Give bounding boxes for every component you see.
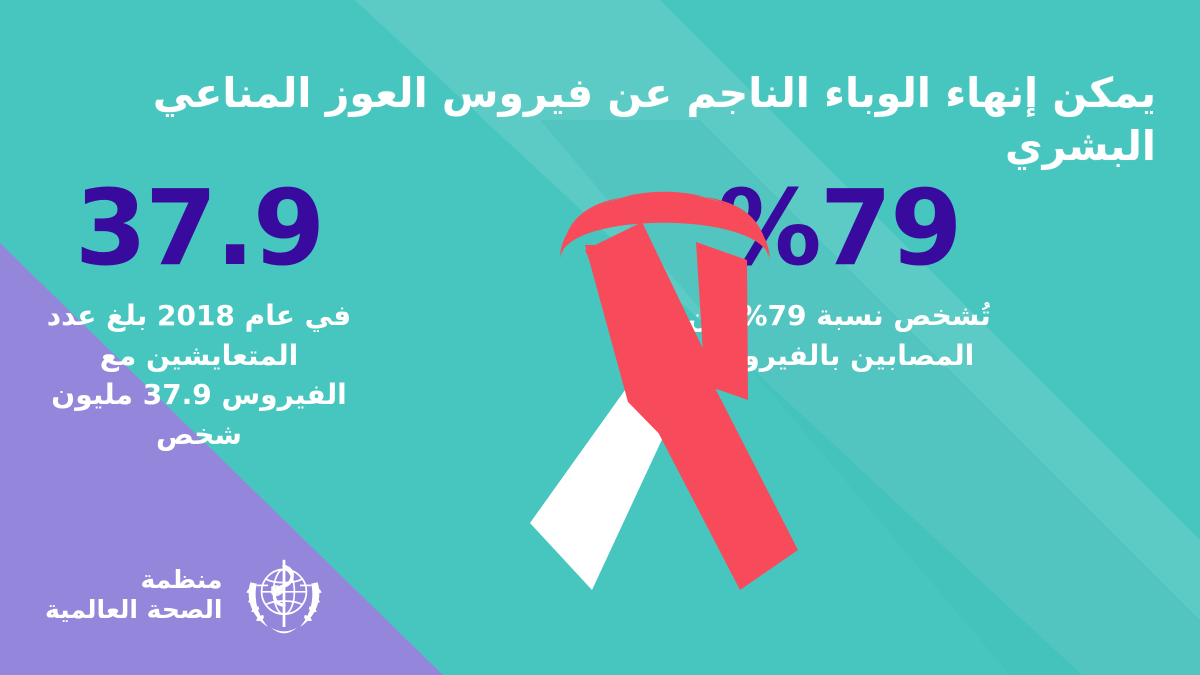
- who-logo-text: منظمة الصحة العالمية: [45, 565, 222, 626]
- who-logo: منظمة الصحة العالمية: [45, 547, 332, 643]
- ribbon-tail-white: [530, 390, 665, 590]
- who-emblem-rod: [283, 560, 286, 627]
- stat-caption-people-living-with-hiv: في عام 2018 بلغ عدد المتعايشين مع الفيرو…: [34, 296, 364, 455]
- awareness-ribbon: [500, 150, 830, 590]
- stat-number-37-9: 37.9: [34, 178, 364, 280]
- who-emblem-icon: [236, 547, 332, 643]
- who-emblem-wreath-base: [272, 628, 298, 634]
- stat-block-people-living-with-hiv: 37.9 في عام 2018 بلغ عدد المتعايشين مع ا…: [34, 178, 364, 455]
- awareness-ribbon-icon: [500, 150, 830, 590]
- infographic-poster: يمكن إنهاء الوباء الناجم عن فيروس العوز …: [0, 0, 1200, 675]
